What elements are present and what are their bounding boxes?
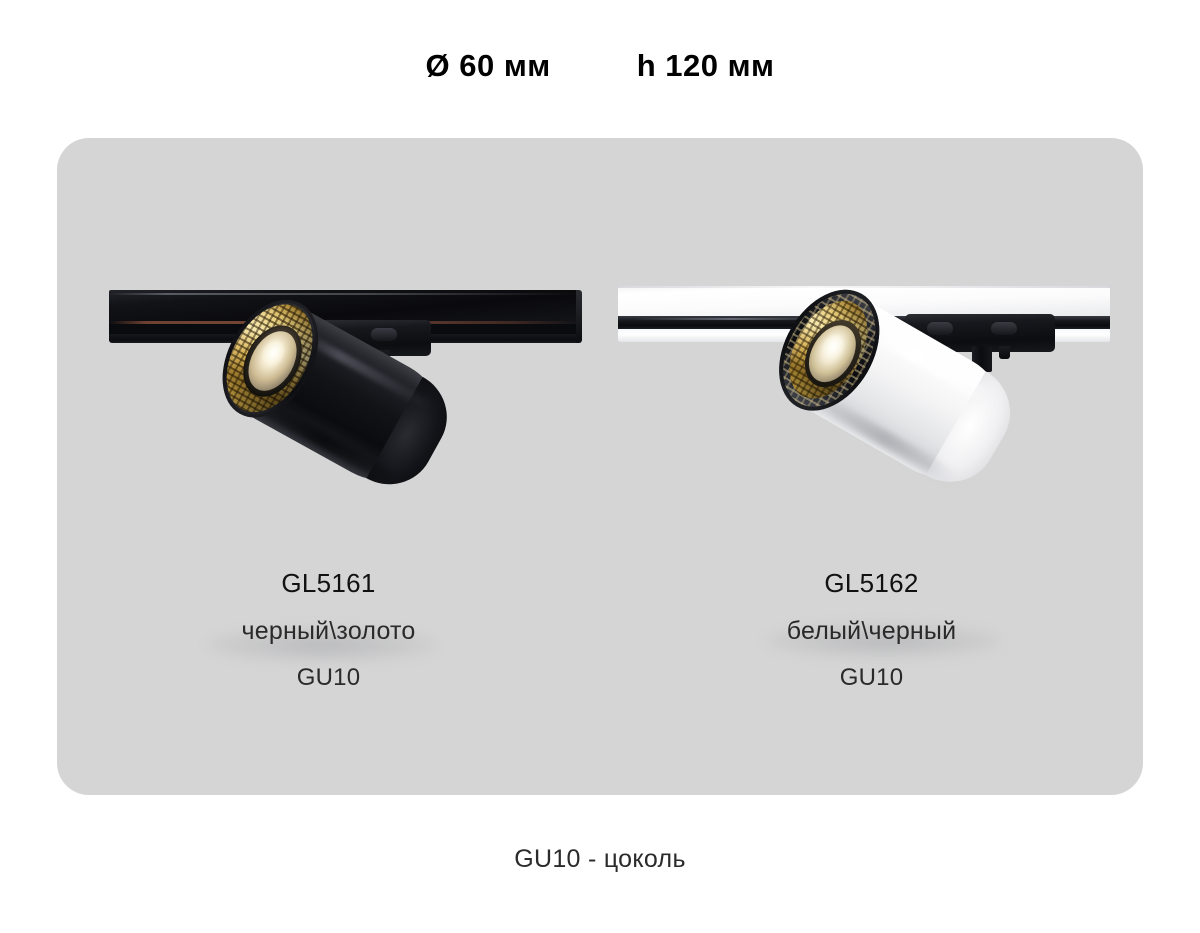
height-label: h 120 мм xyxy=(637,48,775,84)
diameter-label: Ø 60 мм xyxy=(426,48,551,84)
adapter-lever xyxy=(927,322,953,335)
product-panel: GL5161 черный\золото GU10 GL5162 белый\ч… xyxy=(57,138,1143,795)
product-color-label: белый\черный xyxy=(600,617,1143,646)
product-model-label: GL5161 xyxy=(57,568,600,599)
rail-end-cap xyxy=(576,290,582,343)
rail-highlight xyxy=(109,293,579,295)
adapter-pin xyxy=(999,346,1010,359)
adapter-lever xyxy=(371,328,397,341)
product-cell-gl5162 xyxy=(600,138,1143,795)
dimensions-header: Ø 60 мм h 120 мм xyxy=(0,48,1200,84)
product-socket-label: GU10 xyxy=(57,664,600,692)
rail-top-face xyxy=(109,290,579,324)
product-cell-gl5161 xyxy=(57,138,600,795)
caption-gl5161: GL5161 черный\золото GU10 xyxy=(57,568,600,692)
product-color-label: черный\золото xyxy=(57,617,600,646)
product-spec-sheet: Ø 60 мм h 120 мм xyxy=(0,0,1200,933)
caption-gl5162: GL5162 белый\черный GU10 xyxy=(600,568,1143,692)
rail-top-edge xyxy=(618,286,1110,288)
product-model-label: GL5162 xyxy=(600,568,1143,599)
product-socket-label: GU10 xyxy=(600,664,1143,692)
adapter-lever xyxy=(991,322,1017,335)
socket-note: GU10 - цоколь xyxy=(0,845,1200,874)
